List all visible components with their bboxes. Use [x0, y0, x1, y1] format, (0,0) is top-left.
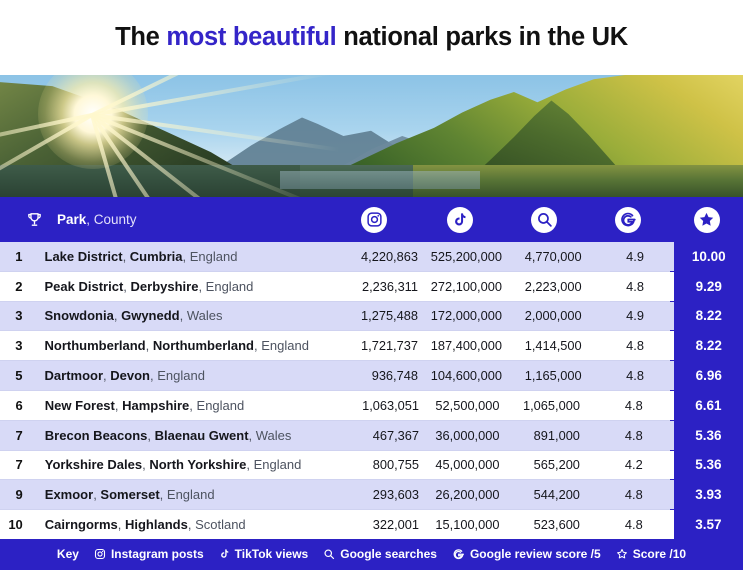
header-park-cell: Park, County	[10, 211, 330, 228]
table-header: Park, County	[0, 197, 743, 242]
header-col-google-review[interactable]	[586, 207, 670, 233]
google-review-value: 4.8	[594, 510, 674, 539]
park-name: Yorkshire Dales	[45, 457, 142, 472]
key-item-label: Instagram posts	[111, 547, 204, 561]
table-row[interactable]: 2 Peak District, Derbyshire, England 2,2…	[0, 272, 743, 301]
title-after: national parks in the UK	[336, 23, 627, 51]
score-badge: 6.61	[674, 391, 743, 420]
park-name: Dartmoor	[45, 368, 104, 383]
key-label: Key	[57, 547, 79, 561]
instagram-icon	[361, 207, 387, 233]
rank-cell: 3	[0, 331, 29, 360]
table-body: 1 Lake District, Cumbria, England 4,220,…	[0, 242, 743, 539]
park-name: Peak District	[45, 279, 124, 294]
star-icon	[694, 207, 720, 233]
trophy-icon	[26, 211, 43, 228]
google-search-value: 544,200	[513, 480, 593, 509]
country-name: Wales	[256, 428, 292, 443]
rank-cell: 9	[0, 480, 29, 509]
header-metric-icons	[330, 207, 743, 233]
score-badge: 9.29	[674, 272, 743, 301]
table-row[interactable]: 3 Northumberland, Northumberland, Englan…	[0, 331, 743, 360]
country-name: England	[190, 249, 238, 264]
header-park-label: Park, County	[57, 212, 137, 227]
score-badge: 5.36	[674, 451, 743, 480]
table-row[interactable]: 6 New Forest, Hampshire, England 1,063,0…	[0, 391, 743, 420]
infographic-page: The most beautiful national parks in the…	[0, 0, 743, 571]
table-row[interactable]: 7 Yorkshire Dales, North Yorkshire, Engl…	[0, 451, 743, 480]
table-row[interactable]: 9 Exmoor, Somerset, England 293,603 26,2…	[0, 480, 743, 509]
title-highlight: most beautiful	[166, 23, 336, 51]
instagram-value: 2,236,311	[349, 272, 432, 301]
country-name: England	[254, 457, 302, 472]
header-park-rest: , County	[86, 212, 136, 227]
tiktok-value: 272,100,000	[432, 272, 516, 301]
instagram-icon	[94, 548, 106, 560]
google-review-value: 4.9	[596, 242, 675, 271]
key-item-label: Google searches	[340, 547, 437, 561]
tiktok-value: 15,100,000	[433, 510, 513, 539]
country-name: England	[157, 368, 205, 383]
instagram-value: 936,748	[349, 361, 432, 390]
county-name: North Yorkshire	[149, 457, 246, 472]
instagram-value: 1,275,488	[349, 302, 432, 331]
rank-cell: 7	[0, 421, 29, 450]
header-col-instagram[interactable]	[330, 207, 418, 233]
country-name: England	[261, 338, 309, 353]
table-row[interactable]: 3 Snowdonia, Gwynedd, Wales 1,275,488 17…	[0, 302, 743, 331]
google-review-value: 4.8	[594, 421, 674, 450]
park-cell: Exmoor, Somerset, England	[29, 480, 349, 509]
google-search-value: 565,200	[513, 451, 593, 480]
tiktok-icon	[219, 548, 230, 560]
instagram-value: 1,721,737	[349, 331, 432, 360]
google-review-value: 4.8	[596, 272, 675, 301]
tiktok-value: 52,500,000	[433, 391, 513, 420]
score-badge: 5.36	[674, 421, 743, 450]
google-search-value: 523,600	[513, 510, 593, 539]
county-name: Highlands	[125, 517, 188, 532]
park-cell: New Forest, Hampshire, England	[29, 391, 349, 420]
google-review-value: 4.8	[594, 391, 674, 420]
score-badge: 8.22	[674, 331, 743, 360]
instagram-value: 467,367	[349, 421, 433, 450]
score-badge: 10.00	[674, 242, 743, 271]
google-search-value: 891,000	[513, 421, 593, 450]
county-name: Hampshire	[122, 398, 189, 413]
google-search-icon	[323, 548, 335, 560]
county-name: Devon	[110, 368, 150, 383]
key-item-label: Score /10	[633, 547, 686, 561]
park-name: Northumberland	[45, 338, 146, 353]
instagram-value: 1,063,051	[349, 391, 433, 420]
park-cell: Brecon Beacons, Blaenau Gwent, Wales	[29, 421, 349, 450]
title-before: The	[115, 23, 166, 51]
rank-cell: 3	[0, 302, 29, 331]
key-item-instagram: Instagram posts	[94, 547, 204, 561]
table-row[interactable]: 10 Cairngorms, Highlands, Scotland 322,0…	[0, 510, 743, 539]
lake-reflection-center	[280, 171, 480, 189]
country-name: England	[167, 487, 215, 502]
header-park-bold: Park	[57, 212, 86, 227]
park-cell: Yorkshire Dales, North Yorkshire, Englan…	[29, 451, 349, 480]
park-name: Brecon Beacons	[45, 428, 148, 443]
google-search-value: 1,165,000	[516, 361, 596, 390]
score-badge: 3.93	[674, 480, 743, 509]
key-legend: Key Instagram posts TikTok views	[0, 539, 743, 570]
tiktok-value: 26,200,000	[433, 480, 513, 509]
instagram-value: 800,755	[349, 451, 433, 480]
google-review-value: 4.8	[596, 331, 675, 360]
park-name: Exmoor	[45, 487, 93, 502]
title-bar: The most beautiful national parks in the…	[0, 0, 743, 75]
google-review-value: 4.8	[594, 480, 674, 509]
google-search-value: 4,770,000	[516, 242, 596, 271]
county-name: Derbyshire	[131, 279, 199, 294]
tiktok-value: 187,400,000	[432, 331, 516, 360]
key-item-score: Score /10	[616, 547, 686, 561]
park-cell: Cairngorms, Highlands, Scotland	[29, 510, 349, 539]
country-name: Wales	[187, 308, 223, 323]
table-row[interactable]: 7 Brecon Beacons, Blaenau Gwent, Wales 4…	[0, 421, 743, 450]
rank-cell: 1	[0, 242, 29, 271]
instagram-value: 4,220,863	[349, 242, 432, 271]
score-badge: 6.96	[674, 361, 743, 390]
instagram-value: 322,001	[349, 510, 433, 539]
google-review-value: 4.2	[594, 451, 674, 480]
google-search-value: 1,414,500	[516, 331, 596, 360]
park-cell: Northumberland, Northumberland, England	[29, 331, 349, 360]
header-col-score[interactable]	[670, 207, 743, 233]
park-name: Cairngorms	[45, 517, 118, 532]
county-name: Northumberland	[153, 338, 254, 353]
score-badge: 3.57	[674, 510, 743, 539]
hero-photo	[0, 75, 743, 197]
star-icon	[616, 548, 628, 560]
key-item-label: Google review score /5	[470, 547, 601, 561]
country-name: Scotland	[195, 517, 246, 532]
tiktok-value: 525,200,000	[432, 242, 516, 271]
google-review-value: 4.8	[596, 361, 675, 390]
tiktok-value: 45,000,000	[433, 451, 513, 480]
header-col-tiktok[interactable]	[418, 207, 502, 233]
country-name: England	[206, 279, 254, 294]
park-cell: Peak District, Derbyshire, England	[29, 272, 349, 301]
google-search-value: 2,000,000	[516, 302, 596, 331]
tiktok-value: 172,000,000	[432, 302, 516, 331]
park-name: Lake District	[45, 249, 123, 264]
tiktok-icon	[447, 207, 473, 233]
key-item-google-search: Google searches	[323, 547, 437, 561]
park-name: New Forest	[45, 398, 115, 413]
google-review-value: 4.9	[596, 302, 675, 331]
score-badge: 8.22	[674, 302, 743, 331]
tiktok-value: 36,000,000	[433, 421, 513, 450]
park-cell: Lake District, Cumbria, England	[29, 242, 349, 271]
county-name: Gwynedd	[121, 308, 180, 323]
rank-cell: 10	[0, 510, 29, 539]
google-search-value: 1,065,000	[513, 391, 593, 420]
park-name: Snowdonia	[45, 308, 114, 323]
table-row[interactable]: 5 Dartmoor, Devon, England 936,748 104,6…	[0, 361, 743, 390]
county-name: Blaenau Gwent	[155, 428, 249, 443]
key-item-google-review: Google review score /5	[452, 547, 601, 561]
rank-cell: 7	[0, 451, 29, 480]
rank-cell: 6	[0, 391, 29, 420]
rank-cell: 2	[0, 272, 29, 301]
rank-cell: 5	[0, 361, 29, 390]
google-search-value: 2,223,000	[516, 272, 596, 301]
country-name: England	[197, 398, 245, 413]
park-cell: Snowdonia, Gwynedd, Wales	[29, 302, 349, 331]
google-review-icon	[615, 207, 641, 233]
key-item-tiktok: TikTok views	[219, 547, 309, 561]
page-title: The most beautiful national parks in the…	[115, 23, 628, 52]
tiktok-value: 104,600,000	[432, 361, 516, 390]
google-review-icon	[452, 548, 465, 561]
instagram-value: 293,603	[349, 480, 433, 509]
table-row[interactable]: 1 Lake District, Cumbria, England 4,220,…	[0, 242, 743, 271]
county-name: Somerset	[100, 487, 159, 502]
header-col-google-search[interactable]	[502, 207, 586, 233]
google-search-icon	[531, 207, 557, 233]
park-cell: Dartmoor, Devon, England	[29, 361, 349, 390]
county-name: Cumbria	[130, 249, 183, 264]
key-item-label: TikTok views	[235, 547, 309, 561]
